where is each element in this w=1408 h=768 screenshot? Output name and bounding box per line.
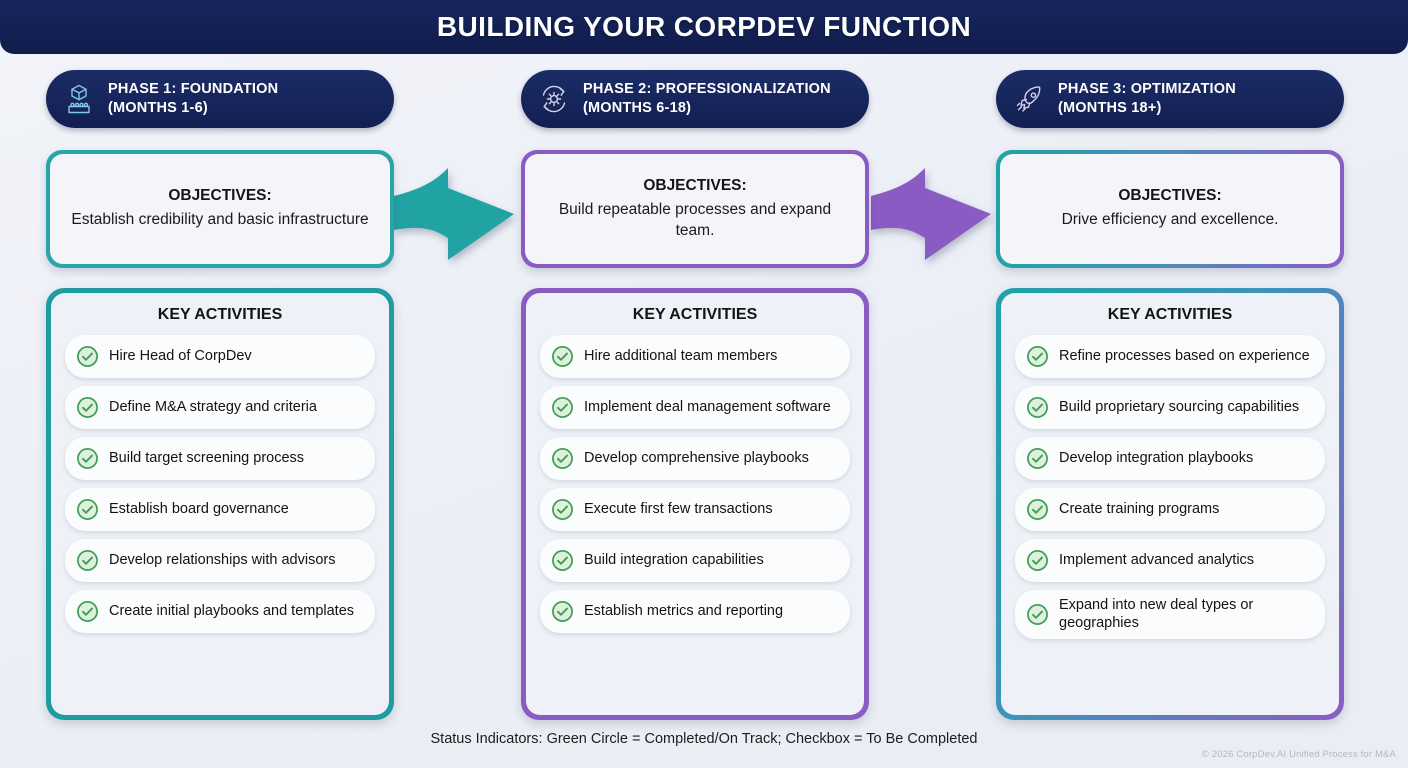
phase-header-3[interactable]: PHASE 3: OPTIMIZATION (MONTHS 18+) [996,70,1344,128]
green-check-circle-icon [1026,447,1049,470]
infographic-page: BUILDING YOUR CORPDEV FUNCTION [0,0,1408,768]
list-item[interactable]: Hire additional team members [540,335,850,378]
list-item[interactable]: Expand into new deal types or geographie… [1015,590,1325,639]
green-check-circle-icon [551,600,574,623]
rocket-icon [1012,82,1046,116]
objectives-card-2: OBJECTIVES: Build repeatable processes a… [521,150,869,268]
green-check-circle-icon [76,447,99,470]
list-item[interactable]: Establish board governance [65,488,375,531]
list-item-label: Implement deal management software [584,398,831,416]
page-title-bar: BUILDING YOUR CORPDEV FUNCTION [0,0,1408,54]
green-check-circle-icon [1026,345,1049,368]
objectives-label-1: OBJECTIVES: [168,187,271,205]
list-item[interactable]: Refine processes based on experience [1015,335,1325,378]
list-item[interactable]: Implement deal management software [540,386,850,429]
list-item[interactable]: Develop integration playbooks [1015,437,1325,480]
objectives-card-1: OBJECTIVES: Establish credibility and ba… [46,150,394,268]
green-check-circle-icon [76,396,99,419]
key-activities-title-2: KEY ACTIVITIES [540,306,850,324]
list-item-label: Hire Head of CorpDev [109,347,252,365]
key-activities-panel-1: KEY ACTIVITIES Hire Head of CorpDev [46,288,394,720]
gear-refresh-icon [537,82,571,116]
key-activities-panel-3: KEY ACTIVITIES Refine processes based on… [996,288,1344,720]
list-item-label: Execute first few transactions [584,500,773,518]
list-item[interactable]: Build integration capabilities [540,539,850,582]
list-item-label: Develop relationships with advisors [109,551,335,569]
phase-columns: PHASE 1: FOUNDATION (MONTHS 1-6) OBJECTI… [0,70,1408,720]
phase-title-line2: (MONTHS 6-18) [583,99,831,118]
green-check-circle-icon [551,498,574,521]
objectives-text-1: Establish credibility and basic infrastr… [71,210,368,230]
list-item[interactable]: Create training programs [1015,488,1325,531]
list-item[interactable]: Develop comprehensive playbooks [540,437,850,480]
list-item[interactable]: Define M&A strategy and criteria [65,386,375,429]
list-item[interactable]: Implement advanced analytics [1015,539,1325,582]
key-activities-list-3: Refine processes based on experience Bui… [1015,335,1325,701]
objectives-card-3: OBJECTIVES: Drive efficiency and excelle… [996,150,1344,268]
green-check-circle-icon [1026,498,1049,521]
phase-header-1[interactable]: PHASE 1: FOUNDATION (MONTHS 1-6) [46,70,394,128]
objectives-label-2: OBJECTIVES: [643,177,746,195]
objectives-text-3: Drive efficiency and excellence. [1062,210,1279,230]
list-item[interactable]: Hire Head of CorpDev [65,335,375,378]
phase-header-2[interactable]: PHASE 2: PROFESSIONALIZATION (MONTHS 6-1… [521,70,869,128]
phase-title-line1: PHASE 2: PROFESSIONALIZATION [583,81,831,97]
list-item-label: Expand into new deal types or geographie… [1059,596,1311,633]
phase-column-3: PHASE 3: OPTIMIZATION (MONTHS 18+) OBJEC… [996,70,1344,720]
phase-column-1: PHASE 1: FOUNDATION (MONTHS 1-6) OBJECTI… [46,70,394,720]
phase-header-label-3: PHASE 3: OPTIMIZATION (MONTHS 18+) [1058,80,1236,117]
list-item-label: Build integration capabilities [584,551,764,569]
key-activities-list-2: Hire additional team members Implement d… [540,335,850,701]
green-check-circle-icon [551,447,574,470]
list-item-label: Create training programs [1059,500,1219,518]
green-check-circle-icon [1026,549,1049,572]
phase-title-line1: PHASE 3: OPTIMIZATION [1058,81,1236,97]
key-activities-title-1: KEY ACTIVITIES [65,306,375,324]
key-activities-panel-2: KEY ACTIVITIES Hire additional team memb… [521,288,869,720]
green-check-circle-icon [76,498,99,521]
phase-header-label-2: PHASE 2: PROFESSIONALIZATION (MONTHS 6-1… [583,80,831,117]
list-item-label: Build target screening process [109,449,304,467]
status-legend: Status Indicators: Green Circle = Comple… [0,731,1408,747]
list-item[interactable]: Execute first few transactions [540,488,850,531]
copyright-notice: © 2026 CorpDev.AI Unified Process for M&… [1202,749,1396,760]
green-check-circle-icon [551,345,574,368]
green-check-circle-icon [76,345,99,368]
green-check-circle-icon [551,549,574,572]
objectives-text-2: Build repeatable processes and expand te… [541,200,849,241]
phase-header-label-1: PHASE 1: FOUNDATION (MONTHS 1-6) [108,80,278,117]
list-item[interactable]: Establish metrics and reporting [540,590,850,633]
list-item-label: Implement advanced analytics [1059,551,1254,569]
list-item-label: Build proprietary sourcing capabilities [1059,398,1299,416]
phase-title-line2: (MONTHS 1-6) [108,99,278,118]
green-check-circle-icon [1026,396,1049,419]
list-item[interactable]: Create initial playbooks and templates [65,590,375,633]
phase-title-line2: (MONTHS 18+) [1058,99,1236,118]
list-item-label: Establish board governance [109,500,289,518]
list-item[interactable]: Build proprietary sourcing capabilities [1015,386,1325,429]
green-check-circle-icon [1026,603,1049,626]
list-item-label: Create initial playbooks and templates [109,602,354,620]
building-block-icon [62,82,96,116]
list-item-label: Refine processes based on experience [1059,347,1310,365]
list-item-label: Define M&A strategy and criteria [109,398,317,416]
list-item-label: Develop integration playbooks [1059,449,1253,467]
list-item[interactable]: Build target screening process [65,437,375,480]
green-check-circle-icon [76,600,99,623]
key-activities-list-1: Hire Head of CorpDev Define M&A strategy… [65,335,375,701]
list-item-label: Develop comprehensive playbooks [584,449,809,467]
phase-title-line1: PHASE 1: FOUNDATION [108,81,278,97]
green-check-circle-icon [551,396,574,419]
green-check-circle-icon [76,549,99,572]
list-item-label: Establish metrics and reporting [584,602,783,620]
list-item-label: Hire additional team members [584,347,777,365]
objectives-label-3: OBJECTIVES: [1118,187,1221,205]
list-item[interactable]: Develop relationships with advisors [65,539,375,582]
phase-column-2: PHASE 2: PROFESSIONALIZATION (MONTHS 6-1… [521,70,869,720]
page-title: BUILDING YOUR CORPDEV FUNCTION [437,11,971,43]
key-activities-title-3: KEY ACTIVITIES [1015,306,1325,324]
